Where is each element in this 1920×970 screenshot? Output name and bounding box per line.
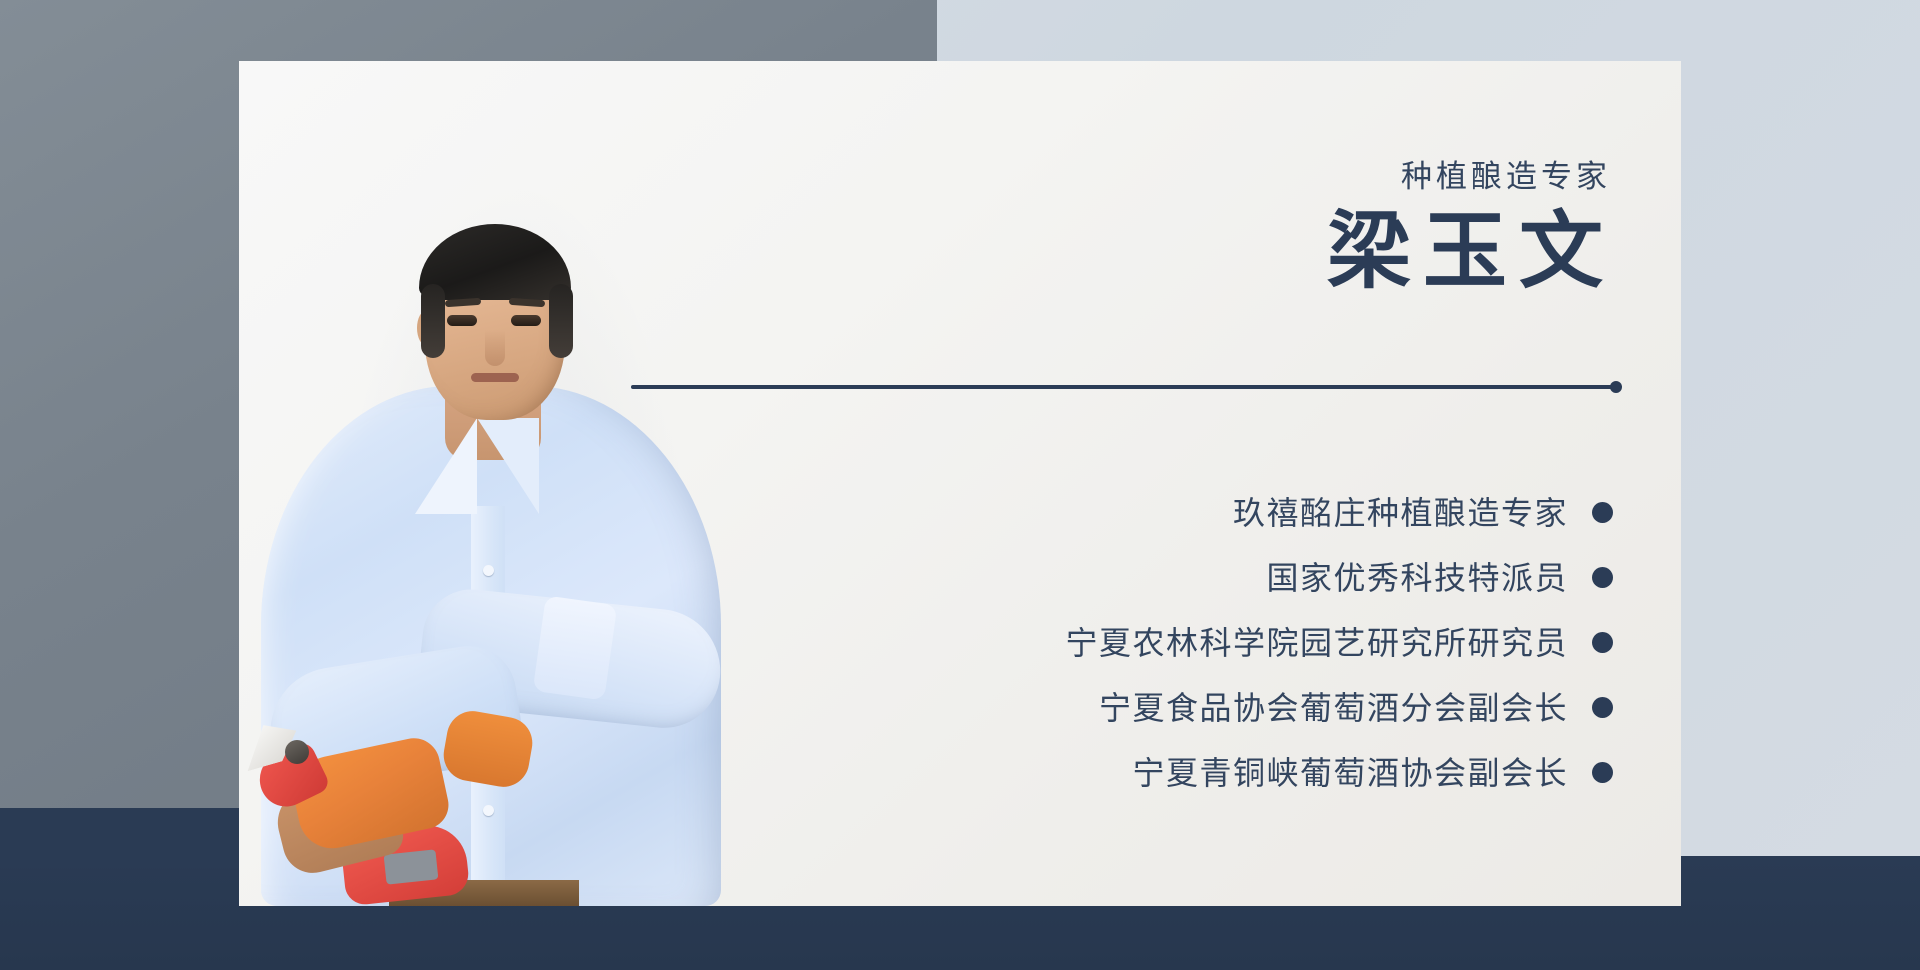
credential-label: 玖禧酩庄种植酿造专家	[1233, 497, 1568, 529]
pruning-shears-label	[384, 849, 439, 884]
credentials-list: 玖禧酩庄种植酿造专家 国家优秀科技特派员 宁夏农林科学院园艺研究所研究员 宁夏食…	[941, 486, 1613, 811]
list-item: 宁夏农林科学院园艺研究所研究员	[941, 616, 1613, 669]
divider-end-dot-icon	[1610, 381, 1622, 393]
credential-label: 宁夏农林科学院园艺研究所研究员	[1065, 627, 1568, 659]
portrait-sleeve-cuff	[533, 595, 618, 700]
bullet-dot-icon	[1592, 632, 1613, 653]
portrait-hair-side-right	[549, 284, 573, 358]
portrait-collar-left	[415, 418, 477, 514]
expert-portrait-image	[239, 61, 799, 906]
divider-line	[631, 385, 1613, 389]
pruning-shears-pivot	[285, 740, 309, 764]
portrait-eye-left	[447, 315, 477, 326]
portrait-shirt-button	[483, 805, 494, 816]
list-item: 宁夏食品协会葡萄酒分会副会长	[941, 681, 1613, 734]
background-navy-notch	[0, 808, 239, 868]
profile-text-column: 种植酿造专家 梁玉文 玖禧酩庄种植酿造专家 国家优秀科技特派员 宁夏农林科学院园…	[939, 61, 1611, 906]
bullet-dot-icon	[1592, 502, 1613, 523]
poster-canvas: 种植酿造专家 梁玉文 玖禧酩庄种植酿造专家 国家优秀科技特派员 宁夏农林科学院园…	[0, 0, 1920, 970]
portrait-hair-side-left	[421, 284, 445, 358]
credential-label: 宁夏青铜峡葡萄酒协会副会长	[1132, 757, 1568, 789]
portrait-collar-right	[477, 418, 539, 514]
bullet-dot-icon	[1592, 762, 1613, 783]
expert-name: 梁玉文	[1327, 211, 1615, 295]
portrait-nose	[485, 330, 505, 366]
bullet-dot-icon	[1592, 697, 1613, 718]
profile-card: 种植酿造专家 梁玉文 玖禧酩庄种植酿造专家 国家优秀科技特派员 宁夏农林科学院园…	[239, 61, 1681, 906]
portrait-mouth	[471, 373, 519, 382]
credential-label: 宁夏食品协会葡萄酒分会副会长	[1099, 692, 1568, 724]
portrait-eye-right	[511, 315, 541, 326]
credential-label: 国家优秀科技特派员	[1266, 562, 1568, 594]
portrait-shirt-button	[483, 565, 494, 576]
bullet-dot-icon	[1592, 567, 1613, 588]
list-item: 国家优秀科技特派员	[941, 551, 1613, 604]
list-item: 宁夏青铜峡葡萄酒协会副会长	[941, 746, 1613, 799]
profile-subtitle: 种植酿造专家	[1401, 161, 1611, 192]
list-item: 玖禧酩庄种植酿造专家	[941, 486, 1613, 539]
